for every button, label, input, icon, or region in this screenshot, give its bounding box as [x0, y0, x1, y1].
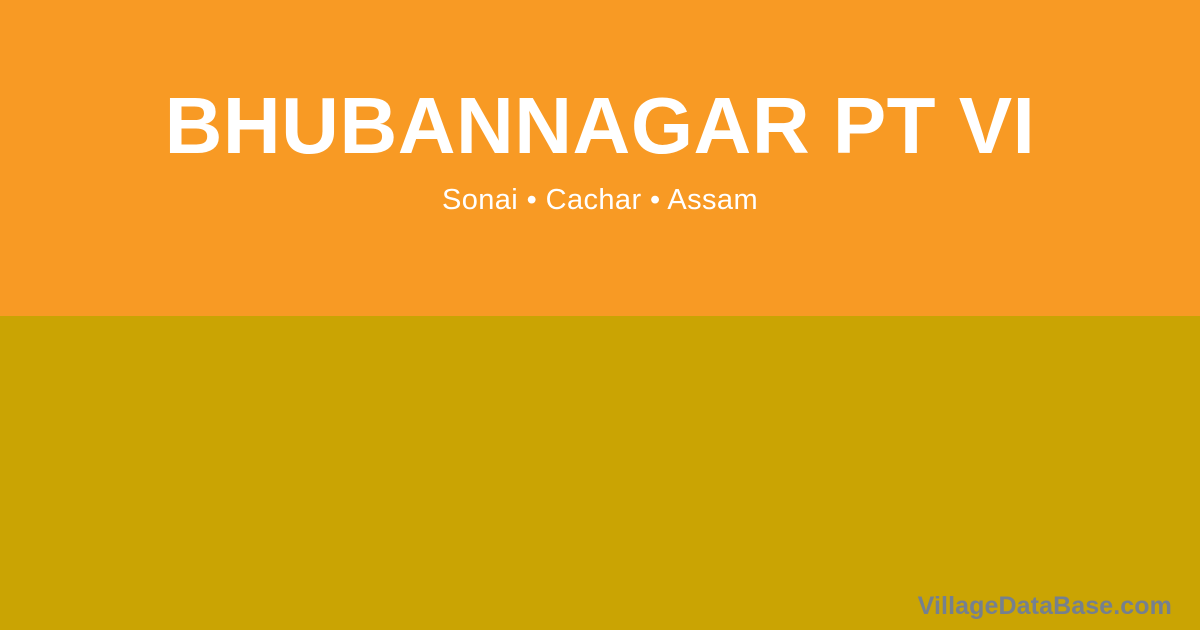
- site-watermark: VillageDataBase.com: [918, 590, 1172, 622]
- page-title: BHUBANNAGAR PT VI: [0, 80, 1200, 172]
- body-band: Town: Silchar (26 km): [0, 316, 1200, 630]
- location-breadcrumb: Sonai • Cachar • Assam: [0, 182, 1200, 218]
- header-band: BHUBANNAGAR PT VI Sonai • Cachar • Assam: [0, 0, 1200, 316]
- place-summary-card: BHUBANNAGAR PT VI Sonai • Cachar • Assam…: [0, 0, 1200, 630]
